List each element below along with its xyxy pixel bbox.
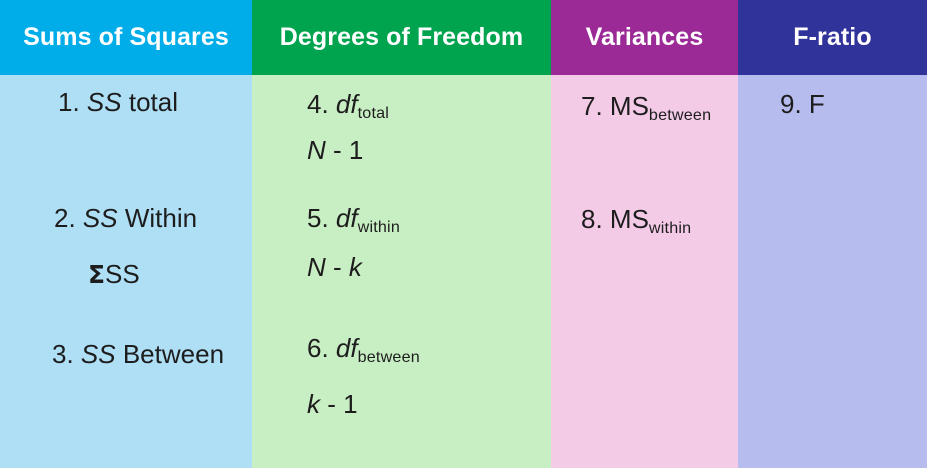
cell-formula-n-minus-k: N - k: [307, 254, 362, 281]
symbol-ms-between: MS: [610, 91, 649, 121]
subscript-between-ms: between: [649, 106, 711, 124]
formula-n-minus-1-rest: - 1: [326, 135, 364, 165]
cell-df-within: 5. dfwithin: [307, 205, 400, 232]
symbol-f: F: [809, 89, 825, 119]
variable-k: k: [349, 252, 362, 282]
sigma-symbol: Σ: [88, 260, 105, 289]
item-number-2: 2.: [54, 203, 76, 233]
item-number-9: 9.: [780, 89, 802, 119]
column-body-degrees-of-freedom: 4. dftotal N - 1 5. dfwithin N - k 6. df…: [252, 75, 551, 468]
label-between: Between: [123, 339, 224, 369]
cell-formula-k-minus-1: k - 1: [307, 391, 358, 418]
subscript-total: total: [358, 104, 389, 122]
column-body-sums-of-squares: 1. SS total 2. SS Within ΣSS 3. SS Betwe…: [0, 75, 252, 468]
column-body-f-ratio: 9. F: [738, 75, 927, 468]
cell-df-between: 6. dfbetween: [307, 335, 420, 362]
item-number-6: 6.: [307, 333, 329, 363]
cell-f-statistic: 9. F: [780, 91, 825, 118]
column-variances: Variances 7. MSbetween 8. MSwithin: [551, 0, 738, 468]
subscript-within: within: [358, 218, 400, 236]
symbol-df-within: df: [336, 203, 358, 233]
cell-ss-total: 1. SS total: [58, 89, 178, 116]
column-f-ratio: F-ratio 9. F: [738, 0, 927, 468]
column-degrees-of-freedom: Degrees of Freedom 4. dftotal N - 1 5. d…: [252, 0, 551, 468]
item-number-3: 3.: [52, 339, 74, 369]
column-sums-of-squares: Sums of Squares 1. SS total 2. SS Within…: [0, 0, 252, 468]
cell-ms-between: 7. MSbetween: [581, 93, 711, 120]
column-body-variances: 7. MSbetween 8. MSwithin: [551, 75, 738, 468]
item-number-4: 4.: [307, 89, 329, 119]
variable-k-2: k: [307, 389, 320, 419]
label-within: Within: [125, 203, 197, 233]
item-number-5: 5.: [307, 203, 329, 233]
column-header-degrees-of-freedom: Degrees of Freedom: [252, 0, 551, 75]
subscript-within-ms: within: [649, 219, 691, 237]
item-number-1: 1.: [58, 87, 80, 117]
item-number-7: 7.: [581, 91, 603, 121]
cell-ss-between: 3. SS Between: [52, 341, 224, 368]
cell-df-total: 4. dftotal: [307, 91, 389, 118]
symbol-ss-within: SS: [83, 203, 118, 233]
label-total: total: [129, 87, 178, 117]
formula-operator-minus: -: [326, 252, 349, 282]
sigma-term-ss: SS: [105, 259, 140, 289]
column-header-sums-of-squares: Sums of Squares: [0, 0, 252, 75]
symbol-ss-between: SS: [81, 339, 116, 369]
column-header-f-ratio: F-ratio: [738, 0, 927, 75]
formula-k-minus-1-rest: - 1: [320, 389, 358, 419]
cell-ss-within: 2. SS Within: [54, 205, 197, 232]
item-number-8: 8.: [581, 204, 603, 234]
anova-summary-table: Sums of Squares 1. SS total 2. SS Within…: [0, 0, 927, 468]
symbol-ms-within: MS: [610, 204, 649, 234]
cell-ms-within: 8. MSwithin: [581, 206, 691, 233]
symbol-df-total: df: [336, 89, 358, 119]
column-header-variances: Variances: [551, 0, 738, 75]
subscript-between: between: [358, 348, 420, 366]
symbol-df-between: df: [336, 333, 358, 363]
symbol-ss-total: SS: [87, 87, 122, 117]
variable-n-2: N: [307, 252, 326, 282]
variable-n: N: [307, 135, 326, 165]
cell-formula-n-minus-1: N - 1: [307, 137, 363, 164]
cell-sigma-ss-formula: ΣSS: [88, 261, 140, 288]
